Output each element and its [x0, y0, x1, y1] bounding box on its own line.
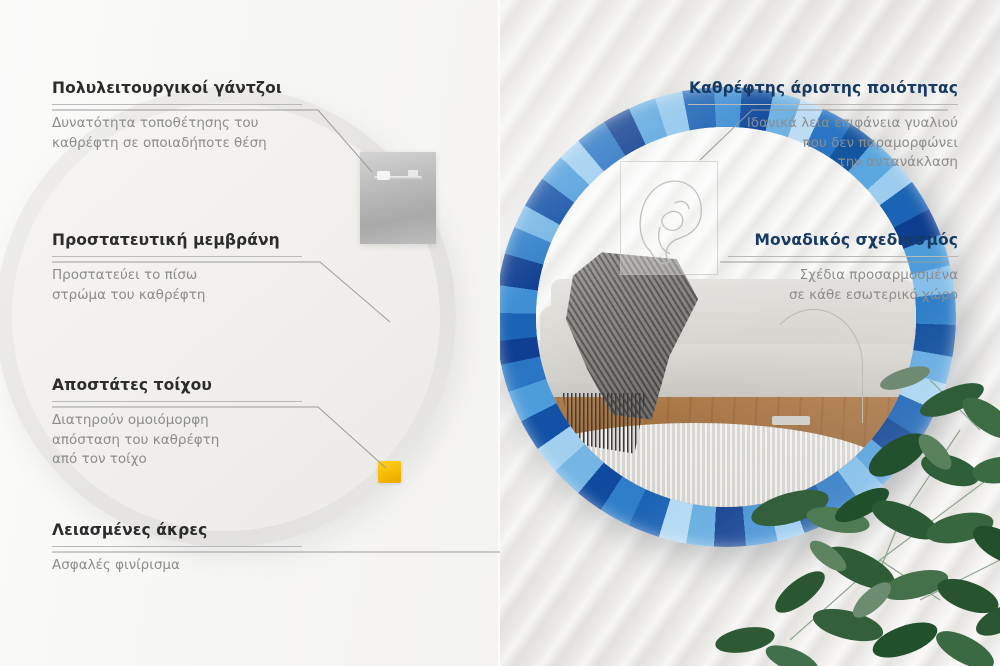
reflected-lamp-base: [772, 416, 810, 426]
reflected-arc-lamp: [764, 309, 863, 423]
callout-hooks-desc: Δυνατότητα τοποθέτησης του καθρέφτη σε ο…: [52, 114, 302, 153]
callout-unique-design: Μοναδικός σχεδιασμός Σχέδια προσαρμοσμέν…: [728, 231, 958, 305]
callout-membrane-rule: [52, 256, 302, 257]
callout-quality-mirror-title: Καθρέφτης άριστης ποιότητας: [688, 79, 958, 97]
callout-hooks-rule: [52, 104, 302, 105]
callout-spacers-desc: Διατηρούν ομοιόμορφη απόσταση του καθρέφ…: [52, 411, 302, 470]
callout-quality-mirror-desc: Ιδανικά λεία επιφάνεια γυαλιού που δεν π…: [688, 114, 958, 173]
infographic-stage: Πολυλειτουργικοί γάντζοι Δυνατότητα τοπο…: [0, 0, 1000, 666]
callout-quality-mirror-rule: [688, 104, 958, 105]
callout-spacers-rule: [52, 401, 302, 402]
callout-spacers: Αποστάτες τοίχου Διατηρούν ομοιόμορφη απ…: [52, 376, 302, 470]
callout-membrane-desc: Προστατεύει το πίσω στρώμα του καθρέφτη: [52, 266, 302, 305]
callout-unique-design-desc: Σχέδια προσαρμοσμένα σε κάθε εσωτερικό χ…: [728, 266, 958, 305]
callout-edges-rule: [52, 546, 302, 547]
wall-hook-icon: [374, 170, 422, 183]
callout-edges-title: Λειασμένες άκρες: [52, 521, 302, 539]
callout-unique-design-rule: [728, 256, 958, 257]
callout-membrane: Προστατευτική μεμβράνη Προστατεύει το πί…: [52, 231, 302, 305]
callout-hooks: Πολυλειτουργικοί γάντζοι Δυνατότητα τοπο…: [52, 79, 302, 153]
reflected-line-art-picture: [620, 161, 719, 275]
mirror-glass-reflection: [536, 127, 916, 507]
wall-spacer-chip: [378, 461, 401, 483]
line-art-face-icon: [621, 162, 718, 274]
callout-edges: Λειασμένες άκρες Ασφαλές φινίρισμα: [52, 521, 302, 576]
callout-quality-mirror: Καθρέφτης άριστης ποιότητας Ιδανικά λεία…: [688, 79, 958, 173]
callout-unique-design-title: Μοναδικός σχεδιασμός: [728, 231, 958, 249]
hook-detail-swatch: [360, 152, 436, 244]
callout-edges-desc: Ασφαλές φινίρισμα: [52, 556, 302, 576]
callout-hooks-title: Πολυλειτουργικοί γάντζοι: [52, 79, 302, 97]
callout-spacers-title: Αποστάτες τοίχου: [52, 376, 302, 394]
callout-membrane-title: Προστατευτική μεμβράνη: [52, 231, 302, 249]
